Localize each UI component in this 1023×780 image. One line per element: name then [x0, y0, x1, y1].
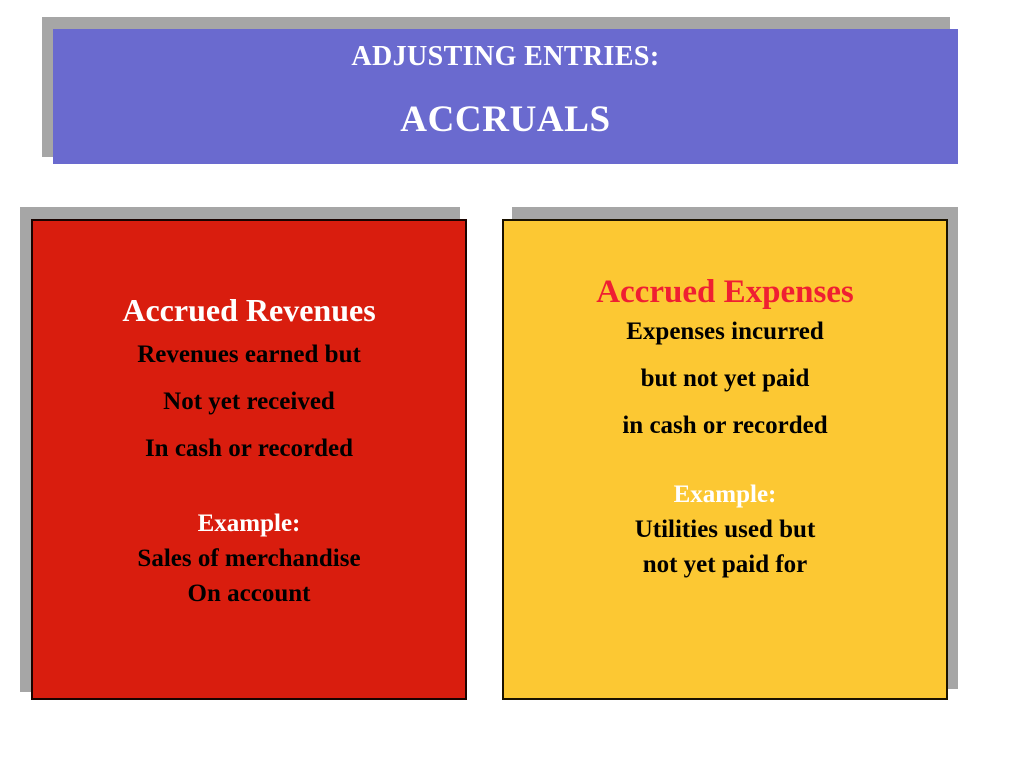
accrued-expenses-panel: Accrued Expenses Expenses incurred but n…	[502, 219, 948, 700]
title-banner: ADJUSTING ENTRIES: ACCRUALS	[53, 29, 958, 164]
accrued-expenses-definition-line: Expenses incurred	[622, 319, 827, 344]
accrued-revenues-definition-line: Not yet received	[137, 389, 361, 414]
accrued-revenues-panel: Accrued Revenues Revenues earned but Not…	[31, 219, 467, 700]
accrued-revenues-heading: Accrued Revenues	[122, 294, 375, 326]
accrued-expenses-example-line: Utilities used but	[635, 517, 816, 542]
accrued-revenues-example: Example: Sales of merchandise On account	[137, 511, 360, 606]
accrued-expenses-heading: Accrued Expenses	[596, 276, 854, 309]
accrued-expenses-example: Example: Utilities used but not yet paid…	[635, 482, 816, 577]
title-line-secondary: ACCRUALS	[400, 101, 610, 138]
accrued-revenues-definition-line: In cash or recorded	[137, 436, 361, 461]
title-line-primary: ADJUSTING ENTRIES:	[351, 43, 659, 71]
accrued-revenues-definition-line: Revenues earned but	[137, 342, 361, 367]
slide-canvas: ADJUSTING ENTRIES: ACCRUALS Accrued Reve…	[0, 0, 1023, 780]
accrued-revenues-example-line: On account	[137, 581, 360, 606]
accrued-expenses-example-label: Example:	[635, 482, 816, 507]
accrued-expenses-definition-line: but not yet paid	[622, 366, 827, 391]
accrued-revenues-definition: Revenues earned but Not yet received In …	[137, 342, 361, 461]
accrued-expenses-definition-line: in cash or recorded	[622, 413, 827, 438]
accrued-revenues-example-line: Sales of merchandise	[137, 546, 360, 571]
accrued-expenses-definition: Expenses incurred but not yet paid in ca…	[622, 319, 827, 438]
accrued-expenses-example-line: not yet paid for	[635, 552, 816, 577]
accrued-revenues-example-label: Example:	[137, 511, 360, 536]
